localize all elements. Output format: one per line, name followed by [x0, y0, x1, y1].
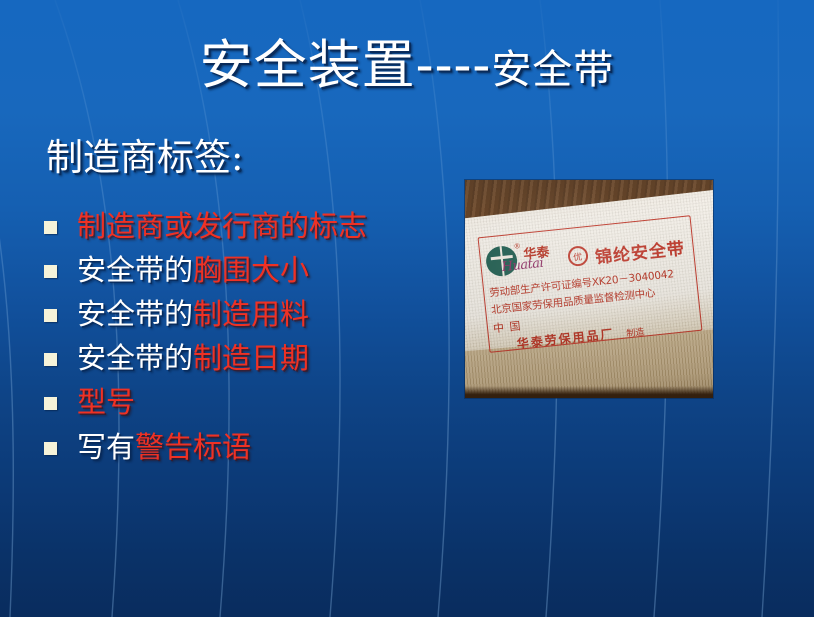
bullet-list: 制造商或发行商的标志 安全带的胸围大小 安全带的制造用料 安全带的制造日期 型号…: [44, 208, 444, 473]
registered-trademark-icon: ®: [513, 242, 521, 251]
list-item-highlight: 制造用料: [193, 297, 309, 331]
label-product-name: 锦纶安全带: [594, 233, 686, 267]
quality-seal-glyph: 优: [572, 250, 582, 264]
bullet-square-icon: [44, 442, 57, 455]
list-item-highlight: 制造商或发行商的标志: [77, 209, 367, 243]
safety-belt-label-photo: ® 华泰 Huatai 优 锦纶安全带 劳动部生产许可证编号XK20－30400…: [465, 180, 713, 398]
list-item-text: 写有警告标语: [77, 429, 251, 466]
list-item: 安全带的制造用料: [44, 296, 444, 333]
quality-seal-icon: 优: [567, 245, 589, 267]
list-item-plain: 安全带的: [77, 253, 193, 287]
list-item: 安全带的制造日期: [44, 340, 444, 377]
list-item-plain: 写有: [77, 430, 135, 464]
list-item-text: 安全带的制造用料: [77, 296, 309, 333]
photo-bottom-shadow: [465, 386, 713, 398]
list-item-text: 安全带的胸围大小: [77, 252, 309, 289]
list-item-text: 型号: [77, 384, 135, 421]
slide-title: 安全装置----安全带: [0, 38, 814, 94]
list-item-highlight: 型号: [77, 385, 135, 419]
list-item-text: 安全带的制造日期: [77, 340, 309, 377]
list-item: 写有警告标语: [44, 429, 444, 466]
printed-label: ® 华泰 Huatai 优 锦纶安全带 劳动部生产许可证编号XK20－30400…: [478, 215, 703, 353]
list-item: 安全带的胸围大小: [44, 252, 444, 289]
bullet-square-icon: [44, 221, 57, 234]
section-heading: 制造商标签:: [46, 138, 243, 179]
presentation-slide: 安全装置----安全带 制造商标签: 制造商或发行商的标志 安全带的胸围大小 安…: [0, 0, 814, 617]
bullet-square-icon: [44, 353, 57, 366]
list-item-plain: 安全带的: [77, 297, 193, 331]
list-item-highlight: 警告标语: [135, 430, 251, 464]
list-item-highlight: 胸围大小: [193, 253, 309, 287]
bullet-square-icon: [44, 397, 57, 410]
list-item: 型号: [44, 384, 444, 421]
slide-title-tail: 安全带: [491, 47, 614, 93]
list-item-highlight: 制造日期: [193, 341, 309, 375]
list-item-plain: 安全带的: [77, 341, 193, 375]
bullet-square-icon: [44, 309, 57, 322]
slide-title-main: 安全装置----: [200, 35, 492, 96]
label-made-by: 制造: [626, 328, 645, 340]
bullet-square-icon: [44, 265, 57, 278]
list-item: 制造商或发行商的标志: [44, 208, 444, 245]
list-item-text: 制造商或发行商的标志: [77, 208, 367, 245]
label-brand-en: Huatai: [501, 256, 544, 275]
